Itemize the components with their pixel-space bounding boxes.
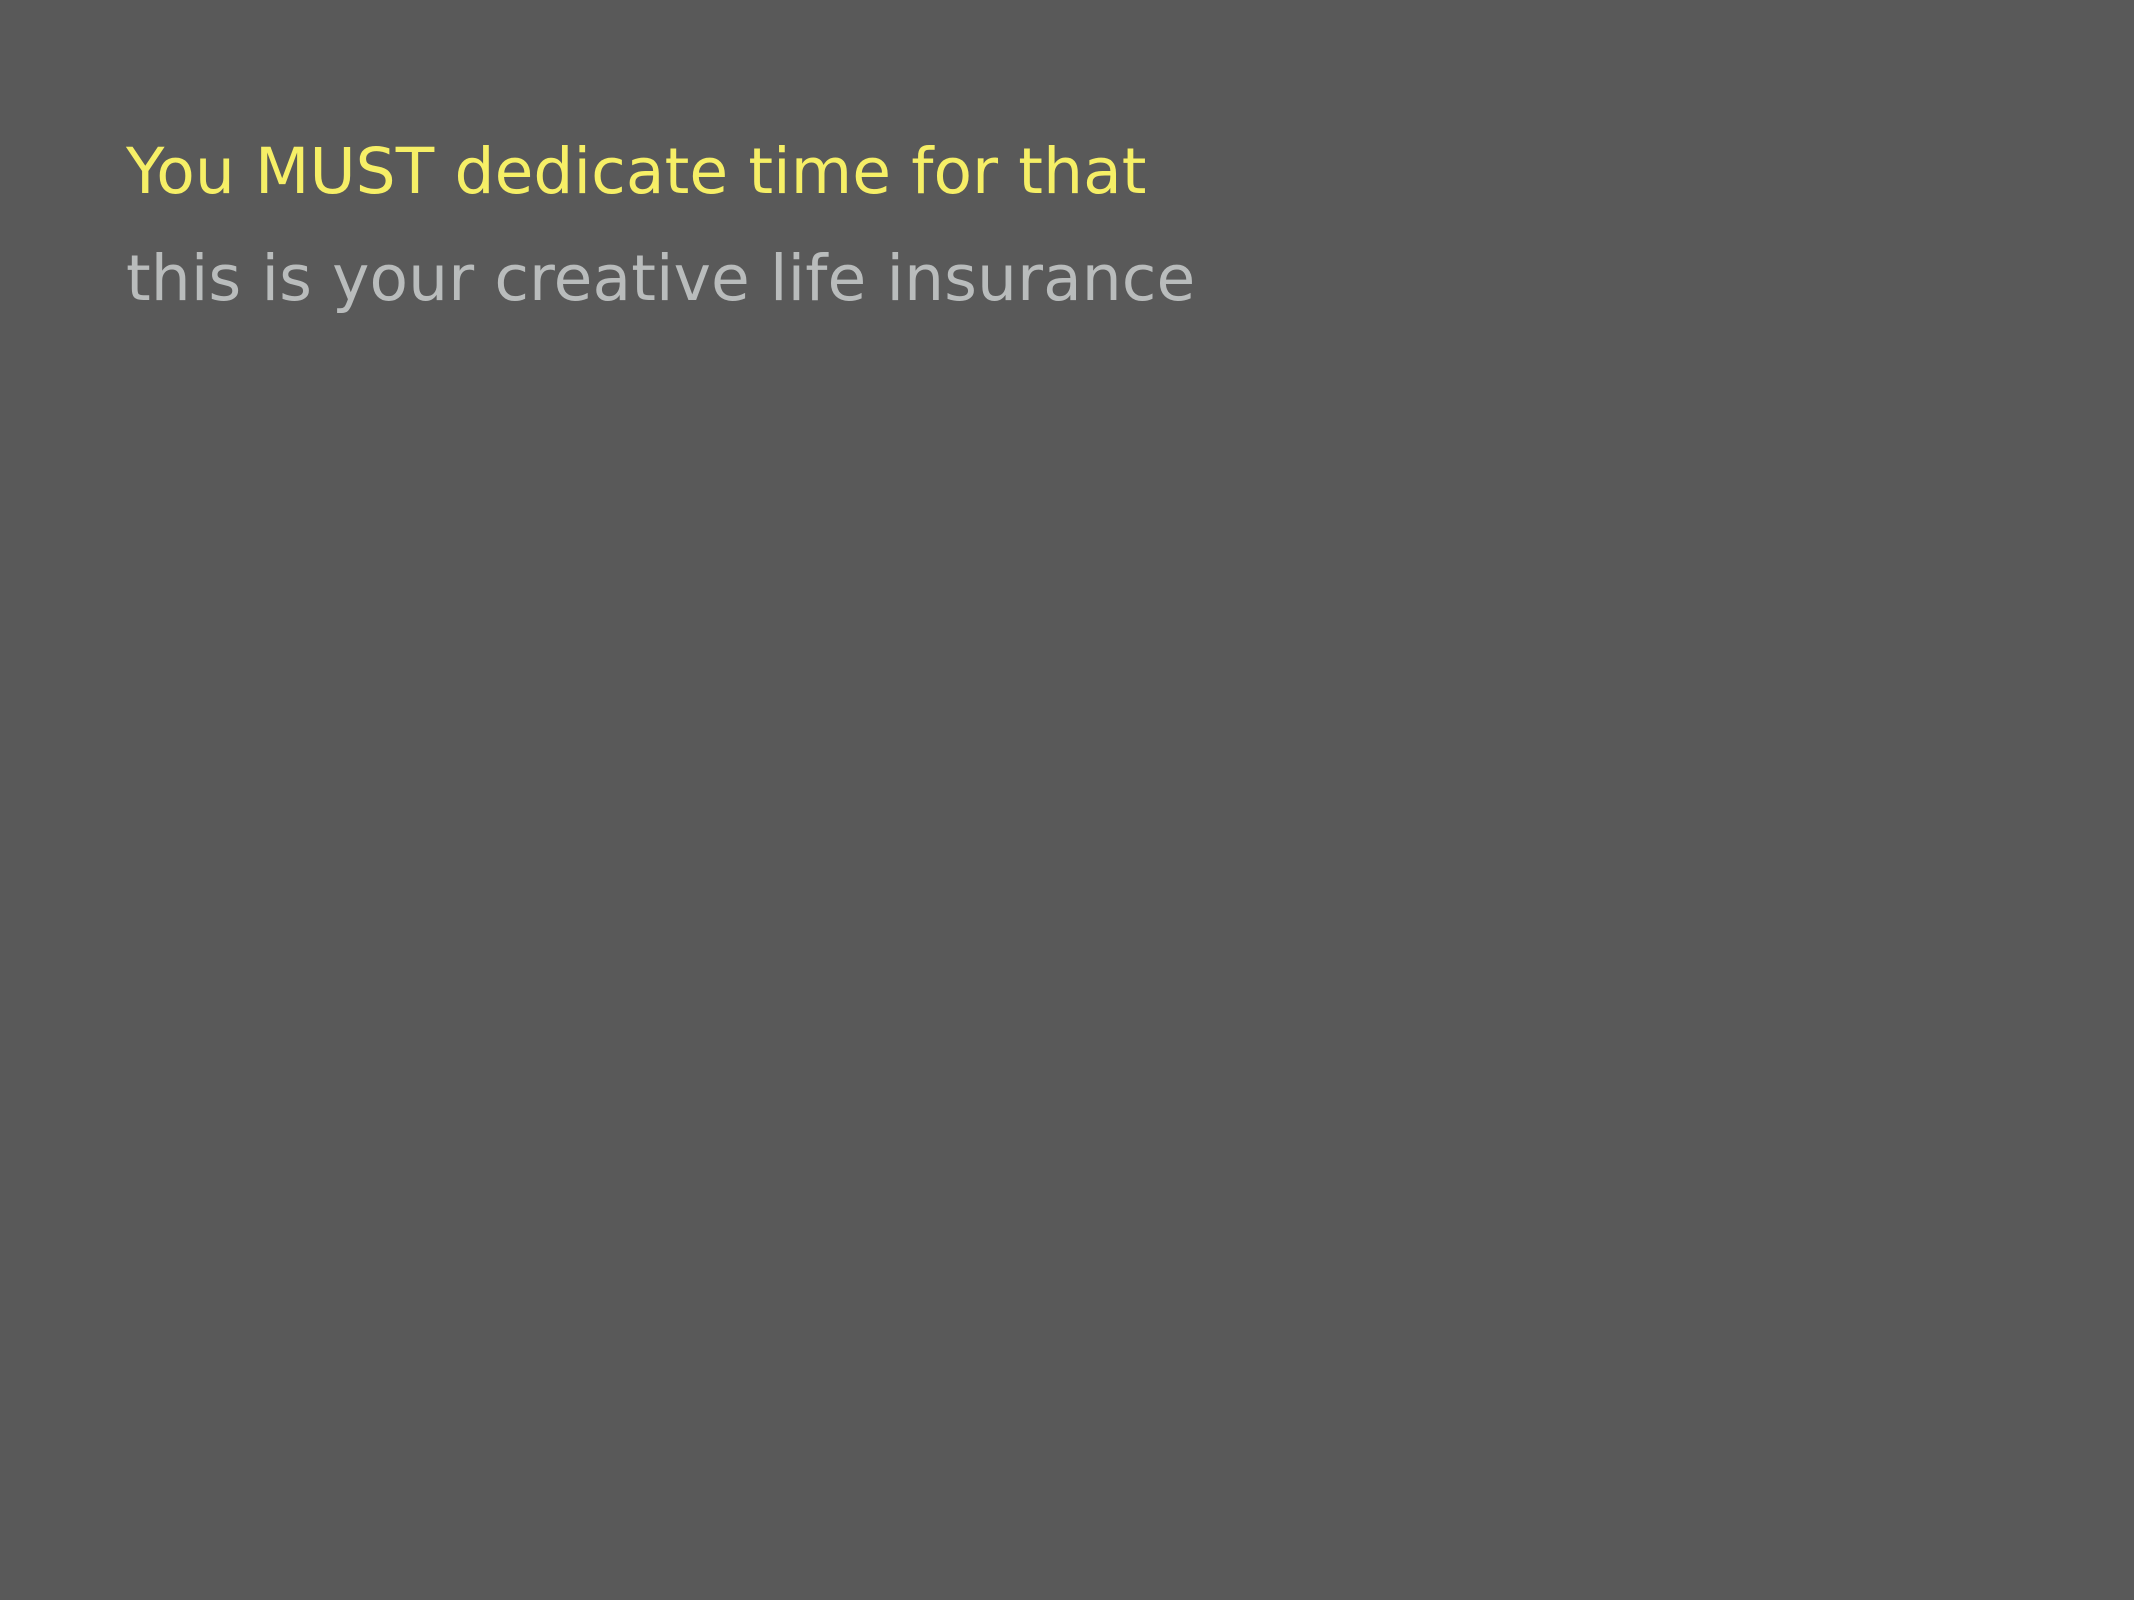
slide-text-block: You MUST dedicate time for that this is … bbox=[126, 118, 2026, 332]
slide-empty-body-area bbox=[0, 360, 2134, 1600]
slide-canvas: You MUST dedicate time for that this is … bbox=[0, 0, 2134, 1600]
slide-subline: this is your creative life insurance bbox=[126, 225, 2026, 332]
slide-headline: You MUST dedicate time for that bbox=[126, 118, 2026, 225]
